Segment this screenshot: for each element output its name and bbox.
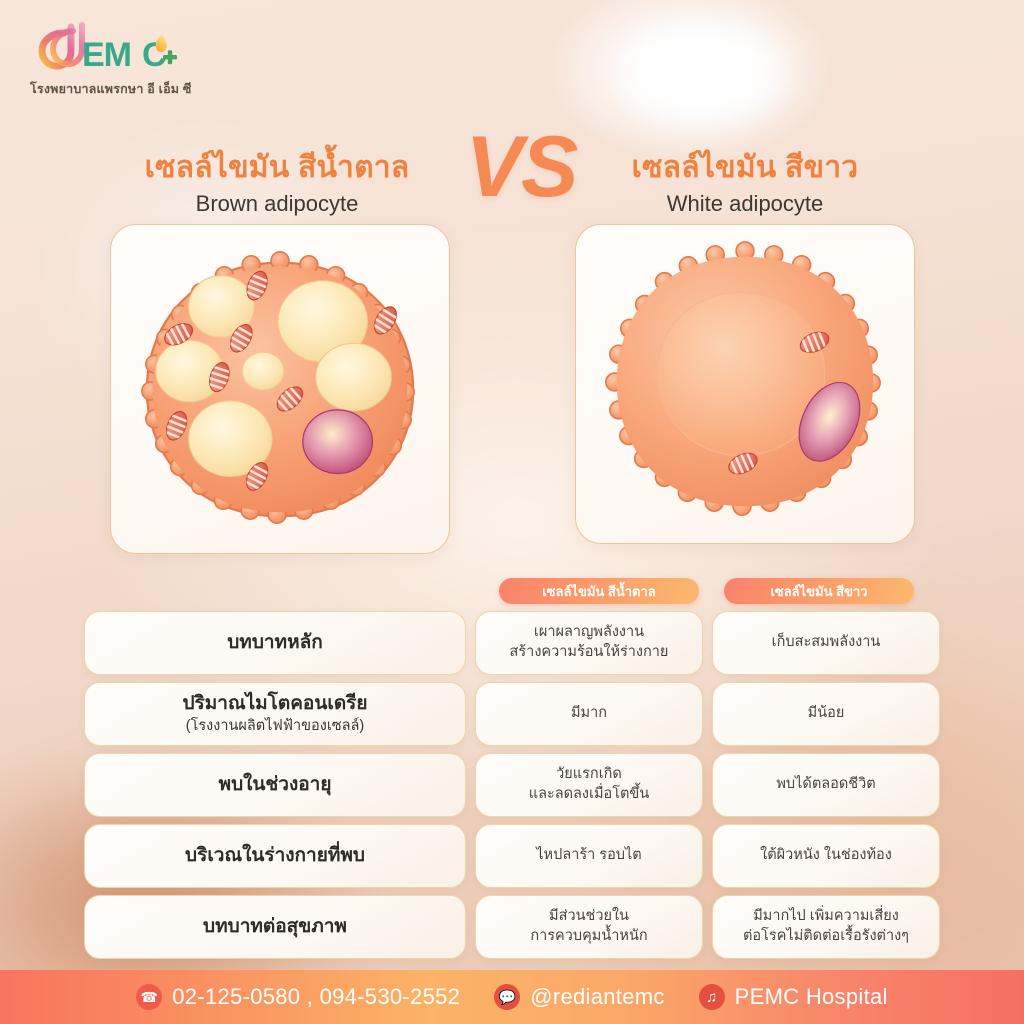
value-line: มีส่วนช่วยใน xyxy=(549,907,629,927)
row-label-main: บทบาทต่อสุขภาพ xyxy=(203,915,347,940)
table-row: พบในช่วงอายุ วัยแรกเกิด และลดลงเมื่อโตขึ… xyxy=(84,753,940,817)
row-label: ปริมาณไมโตคอนเดรีย (โรงงานผลิตไฟฟ้าของเซ… xyxy=(84,682,466,746)
row-label-main: บทบาทหลัก xyxy=(227,631,323,656)
contact-line[interactable]: 💬 @rediantemc xyxy=(494,984,664,1010)
logo-subtitle: โรงพยาบาลแพรกษา อี เอ็ม ซี xyxy=(30,79,210,99)
row-value-brown: ไหปลาร้า รอบไต xyxy=(475,824,703,888)
value-line: เผาผลาญพลังงาน xyxy=(534,623,644,643)
tiktok-icon: ♫ xyxy=(699,984,725,1010)
line-id: @rediantemc xyxy=(530,984,664,1010)
row-label-main: บริเวณในร่างกายที่พบ xyxy=(185,844,365,869)
brown-cell-panel xyxy=(110,224,450,554)
table-row: บทบาทหลัก เผาผลาญพลังงาน สร้างความร้อนให… xyxy=(84,611,940,675)
row-label: บทบาทหลัก xyxy=(84,611,466,675)
value-line: มีมาก xyxy=(571,704,607,724)
hospital-logo: EM C โรงพยาบาลแพรกษา อี เอ็ม ซี xyxy=(30,20,210,102)
comparison-table: เซลล์ไขมัน สีน้ำตาล เซลล์ไขมัน สีขาว บทบ… xyxy=(84,578,940,959)
row-value-white: ใต้ผิวหนัง ในช่องท้อง xyxy=(712,824,940,888)
value-line: ไหปลาร้า รอบไต xyxy=(536,846,641,866)
value-line: และลดลงเมื่อโตขึ้น xyxy=(529,785,650,805)
row-label: บริเวณในร่างกายที่พบ xyxy=(84,824,466,888)
infographic-page: EM C โรงพยาบาลแพรกษา อี เอ็ม ซี เซลล์ไขม… xyxy=(0,0,1024,1024)
row-value-white: พบได้ตลอดชีวิต xyxy=(712,753,940,817)
column-header-brown: เซลล์ไขมัน สีน้ำตาล xyxy=(499,578,699,604)
table-row: ปริมาณไมโตคอนเดรีย (โรงงานผลิตไฟฟ้าของเซ… xyxy=(84,682,940,746)
title-white-en: White adipocyte xyxy=(580,189,910,219)
contact-tiktok[interactable]: ♫ PEMC Hospital xyxy=(699,984,888,1010)
tiktok-handle: PEMC Hospital xyxy=(735,984,888,1010)
title-brown-th: เซลล์ไขมัน สีน้ำตาล xyxy=(92,150,462,187)
contact-phone[interactable]: ☎ 02-125-0580 , 094-530-2552 xyxy=(136,984,460,1010)
row-label-sub: (โรงงานผลิตไฟฟ้าของเซลล์) xyxy=(186,717,364,736)
phone-icon: ☎ xyxy=(136,984,162,1010)
logo-mark-icon: EM C xyxy=(30,20,190,78)
title-brown: เซลล์ไขมัน สีน้ำตาล Brown adipocyte xyxy=(92,150,462,218)
value-line: สร้างความร้อนให้ร่างกาย xyxy=(510,643,669,663)
value-line: วัยแรกเกิด xyxy=(556,765,622,785)
phone-number: 02-125-0580 , 094-530-2552 xyxy=(172,984,460,1010)
row-value-brown: เผาผลาญพลังงาน สร้างความร้อนให้ร่างกาย xyxy=(475,611,703,675)
value-line: ต่อโรคไม่ติดต่อเรื้อรังต่างๆ xyxy=(743,927,909,947)
title-brown-en: Brown adipocyte xyxy=(92,189,462,219)
background-glow-top xyxy=(616,18,792,128)
value-line: มีมากไป เพิ่มความเสี่ยง xyxy=(753,907,899,927)
svg-text:EM: EM xyxy=(82,36,131,74)
row-value-white: มีน้อย xyxy=(712,682,940,746)
table-row: บทบาทต่อสุขภาพ มีส่วนช่วยใน การควบคุมน้ำ… xyxy=(84,895,940,959)
title-white: เซลล์ไขมัน สีขาว White adipocyte xyxy=(580,150,910,218)
row-label: พบในช่วงอายุ xyxy=(84,753,466,817)
row-value-brown: มีส่วนช่วยใน การควบคุมน้ำหนัก xyxy=(475,895,703,959)
value-line: เก็บสะสมพลังงาน xyxy=(772,633,881,653)
row-label-main: ปริมาณไมโตคอนเดรีย xyxy=(183,692,368,717)
value-line: การควบคุมน้ำหนัก xyxy=(530,927,647,947)
column-header-white: เซลล์ไขมัน สีขาว xyxy=(724,578,914,604)
pemc-logo-svg: EM C xyxy=(30,20,190,78)
white-adipocyte-icon xyxy=(576,225,914,543)
vs-label: VS xyxy=(441,124,601,210)
row-value-brown: วัยแรกเกิด และลดลงเมื่อโตขึ้น xyxy=(475,753,703,817)
white-cell-panel xyxy=(575,224,915,544)
row-label-main: พบในช่วงอายุ xyxy=(219,773,332,798)
value-line: พบได้ตลอดชีวิต xyxy=(776,775,875,795)
nucleus xyxy=(303,410,373,474)
line-chat-icon: 💬 xyxy=(494,984,520,1010)
brown-adipocyte-icon xyxy=(111,225,449,553)
row-value-white: มีมากไป เพิ่มความเสี่ยง ต่อโรคไม่ติดต่อเ… xyxy=(712,895,940,959)
table-row: บริเวณในร่างกายที่พบ ไหปลาร้า รอบไต ใต้ผ… xyxy=(84,824,940,888)
contact-footer: ☎ 02-125-0580 , 094-530-2552 💬 @rediante… xyxy=(0,970,1024,1024)
value-line: มีน้อย xyxy=(808,704,845,724)
row-value-white: เก็บสะสมพลังงาน xyxy=(712,611,940,675)
row-label: บทบาทต่อสุขภาพ xyxy=(84,895,466,959)
value-line: ใต้ผิวหนัง ในช่องท้อง xyxy=(760,846,892,866)
title-white-th: เซลล์ไขมัน สีขาว xyxy=(580,150,910,187)
table-column-headers: เซลล์ไขมัน สีน้ำตาล เซลล์ไขมัน สีขาว xyxy=(84,578,940,604)
row-value-brown: มีมาก xyxy=(475,682,703,746)
